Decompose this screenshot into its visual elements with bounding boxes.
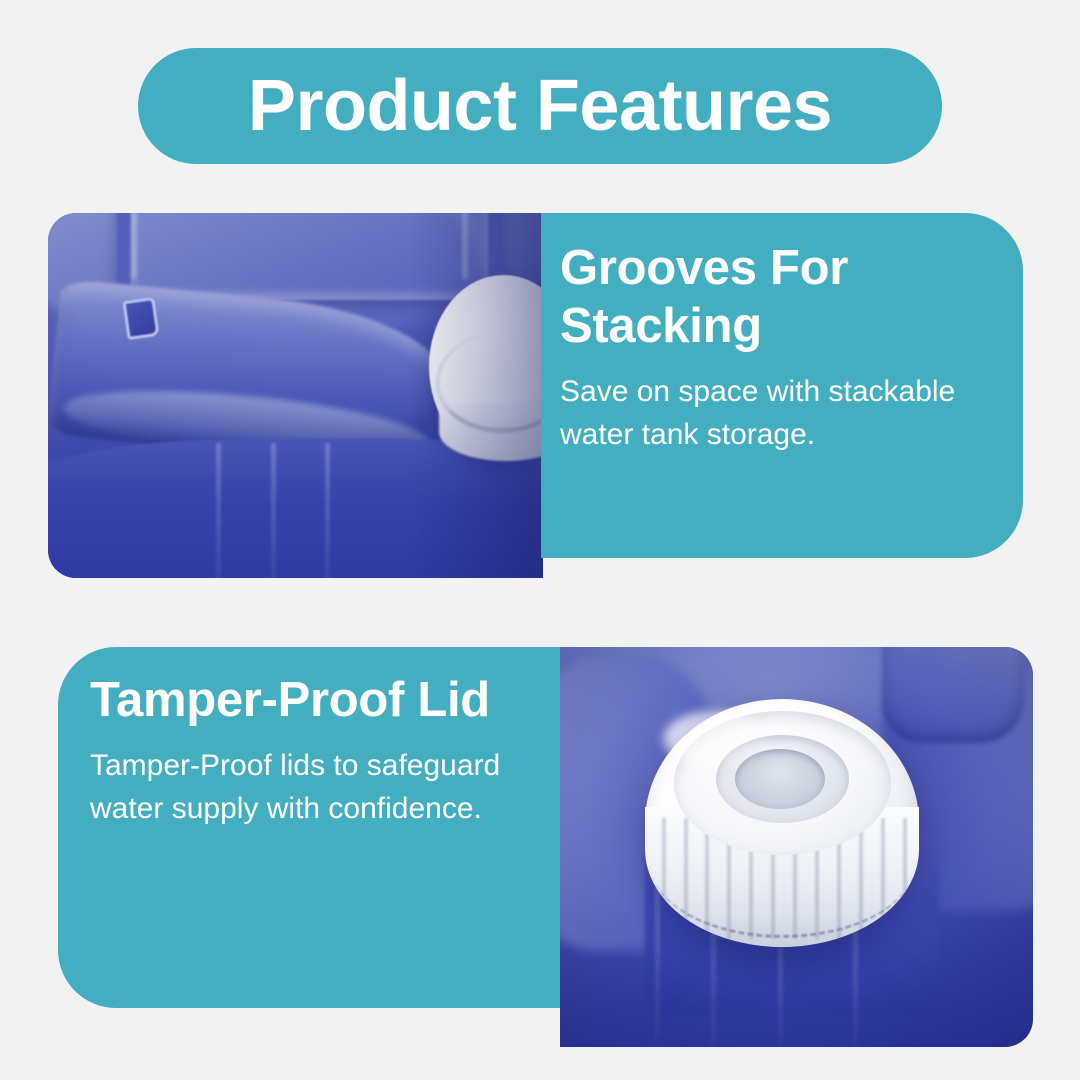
feature-2-image [560,647,1033,1047]
molded-nub [122,297,159,340]
jug-rib [216,443,221,578]
page-title: Product Features [248,70,832,142]
page-title-pill: Product Features [138,48,942,164]
image-shading [560,647,1033,1047]
product-features-infographic: Product Features Grooves For Stacking Sa… [0,0,1080,1080]
feature-1-text-block: Grooves For Stacking Save on space with … [560,240,960,457]
feature-2-body: Tamper-Proof lids to safeguard water sup… [90,744,520,831]
feature-2-text-block: Tamper-Proof Lid Tamper-Proof lids to sa… [90,672,520,831]
feature-1-heading: Grooves For Stacking [560,240,960,356]
feature-2-heading: Tamper-Proof Lid [90,672,520,730]
jug-rib [271,443,276,578]
image-shading [375,213,543,578]
jug-rib [325,443,330,578]
feature-1-image [48,213,543,578]
feature-1-body: Save on space with stackable water tank … [560,370,960,457]
